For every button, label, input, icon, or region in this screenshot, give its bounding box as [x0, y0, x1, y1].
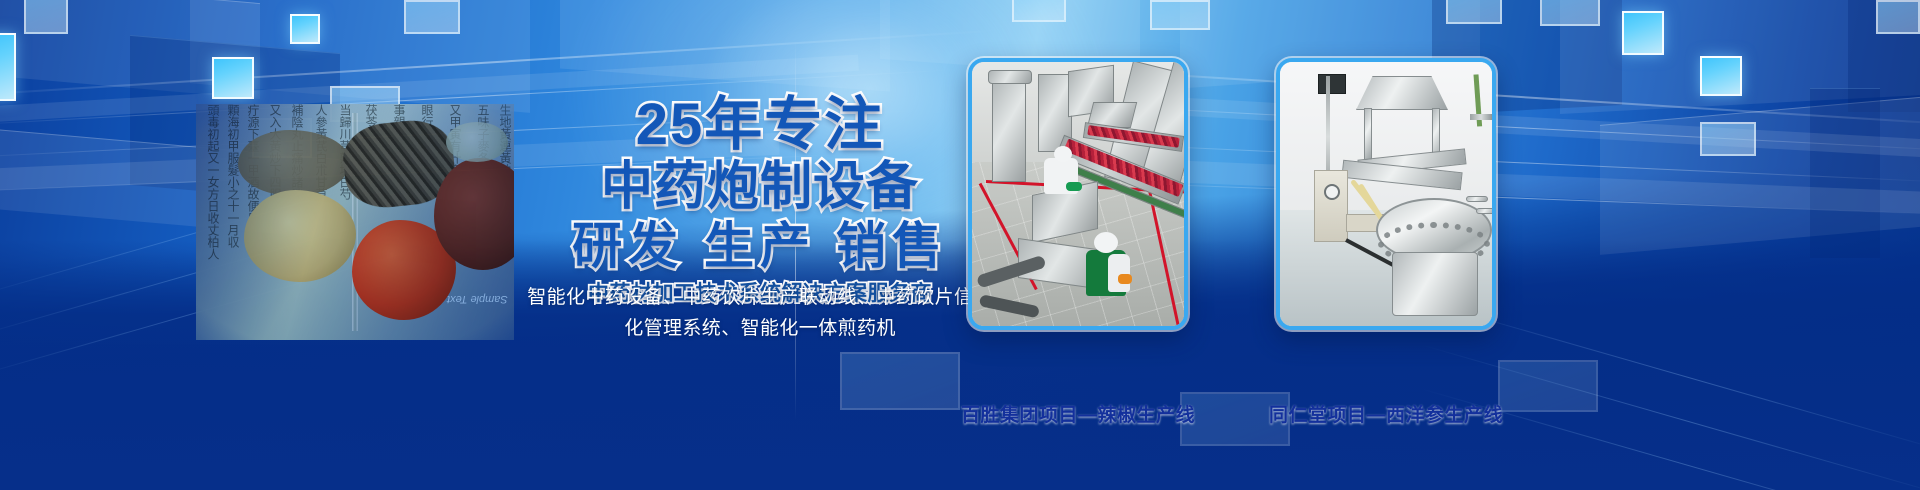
headline-block: 25年专注 中药炮制设备 研发 生产 销售 中药材加工技术系统解决方案服务商	[560, 96, 960, 307]
worker-cap	[1094, 232, 1118, 253]
bg-slab	[560, 0, 890, 92]
wall-pipe	[1470, 114, 1492, 120]
herb-collage-image: 頭毒初起又一女方日收丈柏人 顆海初甲服髮小之十一月収 疔源下臺一甲酒故便用淺 又…	[196, 104, 514, 340]
photo-card-chilli-line[interactable]	[968, 58, 1188, 330]
bg-chip	[1622, 11, 1664, 55]
bg-chip	[1012, 0, 1066, 22]
bg-slab	[1810, 88, 1880, 258]
bg-chip	[1876, 0, 1920, 34]
bg-slab	[190, 0, 530, 113]
worker-lower	[1082, 230, 1138, 300]
worker-cap	[1054, 146, 1072, 162]
herb-watermark: Sample Text	[447, 292, 508, 306]
hand-wheel	[1466, 196, 1488, 202]
bg-chip	[290, 14, 320, 44]
hood-support	[1364, 108, 1372, 160]
headline-line-1: 25年专注	[560, 96, 960, 154]
photo-caption-2: 同仁堂项目—西洋参生产线	[1256, 400, 1516, 427]
worker-glove	[1066, 182, 1082, 191]
pressure-gauge	[1324, 184, 1340, 200]
bg-floor-streak	[1420, 300, 1920, 455]
bg-chip	[1700, 122, 1756, 156]
bg-chip	[840, 352, 960, 410]
bg-chip	[1540, 0, 1600, 26]
bg-chip	[1150, 0, 1210, 30]
control-panel	[1314, 170, 1348, 242]
bg-beam	[0, 29, 998, 98]
worker-upper	[1042, 144, 1084, 196]
bg-chip	[1700, 56, 1742, 96]
bg-chip	[0, 33, 16, 101]
machine-column	[992, 76, 1026, 182]
wall-sign	[1318, 74, 1346, 94]
product-description: 智能化中药设备、中药饮片生产联动线、中药饮片信息化管理系统、智能化一体煎药机	[520, 282, 1000, 344]
photo-card-ginseng-line[interactable]	[1276, 58, 1496, 330]
headline-line-2: 中药炮制设备	[560, 161, 960, 213]
bg-chip	[212, 57, 254, 99]
bg-slab	[1560, 0, 1920, 114]
bg-chip	[24, 0, 68, 34]
ginseng-line-photo	[1280, 62, 1492, 326]
bg-slab	[1848, 0, 1920, 112]
machine-hood	[988, 70, 1032, 84]
pan-base	[1392, 252, 1478, 316]
bg-band	[1079, 92, 1920, 160]
hand-wheel	[1476, 208, 1496, 214]
promo-banner: 頭毒初起又一女方日收丈柏人 顆海初甲服髮小之十一月収 疔源下臺一甲酒故便用淺 又…	[0, 0, 1920, 490]
bg-chip	[404, 0, 460, 34]
bg-slab	[1600, 95, 1920, 255]
photo-caption-1: 百胜集团项目—辣椒生产线	[948, 400, 1208, 427]
chilli-line-photo	[972, 62, 1184, 326]
worker-glove	[1118, 274, 1132, 284]
bg-chip	[1446, 0, 1502, 24]
headline-line-3: 研发 生产 销售	[560, 221, 960, 271]
worker-apron	[1108, 254, 1130, 292]
bg-band	[1120, 158, 1920, 215]
bg-slab	[0, 0, 260, 99]
